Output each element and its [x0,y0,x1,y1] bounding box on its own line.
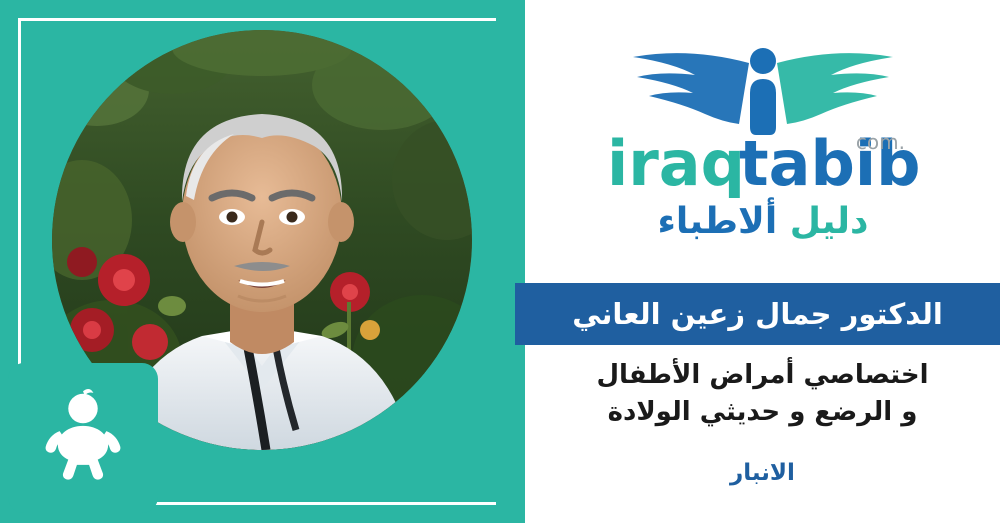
doctor-profile-card: tabib iraq .com دليل ألاطباء الدكتور جما… [0,0,1000,523]
svg-text:.com: .com [855,130,904,154]
specialty-line-2: و الرضع و حديثي الولادة [525,394,1000,431]
doctor-name-bar: الدكتور جمال زعين العاني [515,283,1000,345]
doctor-specialty: اختصاصي أمراض الأطفال و الرضع و حديثي ال… [525,357,1000,431]
svg-text:دليل ألاطباء: دليل ألاطباء [657,197,868,242]
specialty-line-1: اختصاصي أمراض الأطفال [525,357,1000,394]
teal-background-panel [0,0,525,523]
baby-icon [31,386,135,490]
wings-logo-icon: tabib iraq .com دليل ألاطباء [553,27,973,257]
doctor-city: الانبار [525,460,1000,486]
doctor-name: الدكتور جمال زعين العاني [572,297,943,331]
baby-icon-badge [8,363,158,513]
tabibiraq-logo: tabib iraq .com دليل ألاطباء [525,14,1000,269]
svg-text:iraq: iraq [606,127,744,200]
info-panel: tabib iraq .com دليل ألاطباء الدكتور جما… [525,0,1000,523]
